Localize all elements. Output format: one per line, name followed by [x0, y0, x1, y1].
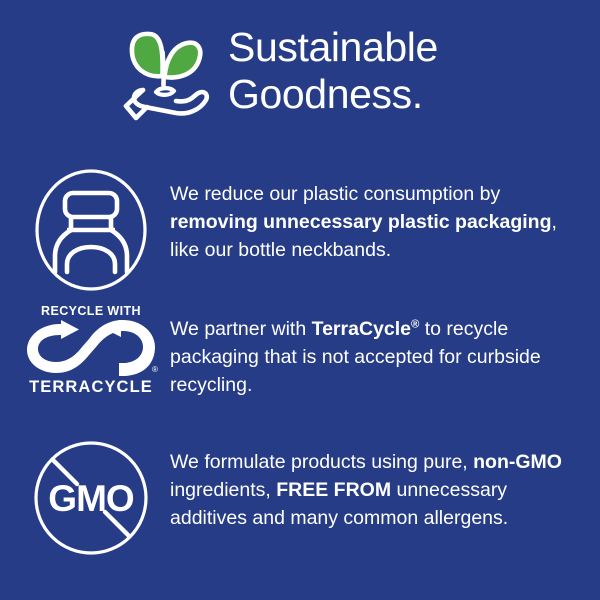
hand-holding-plant-icon: [116, 28, 220, 126]
feature-icon-cell: GMO: [0, 438, 170, 561]
terracycle-infinity-logo: RECYCLE WITH ®: [24, 304, 158, 396]
feature-text-segment: ingredients,: [170, 479, 276, 501]
no-gmo-circle-icon: GMO: [33, 440, 149, 561]
feature-text-segment: We reduce our plastic consumption by: [170, 183, 500, 205]
feature-row-terracycle: RECYCLE WITH ®: [0, 302, 600, 399]
feature-icon-cell: [0, 168, 170, 297]
recycle-infinity-arrows-icon: ®: [24, 320, 158, 376]
feature-row-gmo: GMO We formulate products using pure, no…: [0, 438, 600, 561]
bottle-neckband-circle-icon: [33, 168, 149, 297]
feature-icon-cell: RECYCLE WITH ®: [0, 302, 170, 396]
sustainable-goodness-infographic: Sustainable Goodness. We re: [0, 0, 600, 600]
terracycle-bottom-label: TERRACYCLE: [24, 378, 158, 396]
feature-text-segment-bold: non-GMO: [473, 451, 562, 473]
terracycle-top-label: RECYCLE WITH: [24, 304, 158, 318]
feature-text-terracycle: We partner with TerraCycle® to recycle p…: [170, 302, 600, 399]
gmo-label: GMO: [48, 478, 134, 519]
feature-text-segment-bold: FREE FROM: [276, 479, 391, 501]
brand-name-terracycle: TerraCycle: [312, 318, 411, 340]
header: Sustainable Goodness.: [0, 24, 600, 126]
feature-text-segment-bold: removing unnecessary plastic packaging: [170, 211, 551, 233]
feature-text-segment: We formulate products using pure,: [170, 451, 473, 473]
feature-text-plastic: We reduce our plastic consumption by rem…: [170, 168, 600, 264]
feature-text-segment-bold: TerraCycle®: [312, 318, 420, 340]
registered-trademark-glyph: ®: [152, 365, 158, 374]
feature-row-plastic: We reduce our plastic consumption by rem…: [0, 168, 600, 297]
feature-text-gmo: We formulate products using pure, non-GM…: [170, 438, 600, 532]
feature-text-segment: We partner with: [170, 318, 312, 340]
page-title: Sustainable Goodness.: [228, 24, 438, 118]
